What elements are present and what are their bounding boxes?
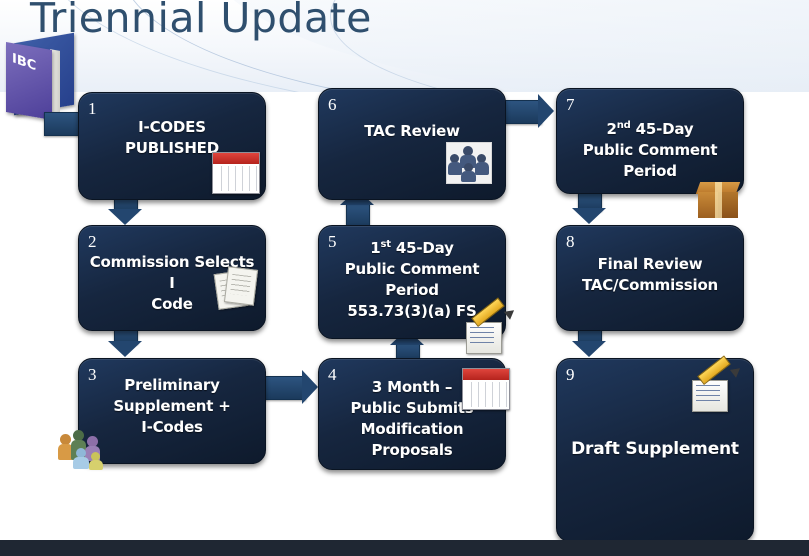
node-label: TAC Review <box>319 121 505 142</box>
people-meeting-icon <box>446 142 492 184</box>
book-title-label: IBC <box>12 51 36 75</box>
ordinal-suffix: st <box>381 239 391 250</box>
node-number: 7 <box>566 95 575 115</box>
node-number: 8 <box>566 232 575 252</box>
node-label-line-1: 2nd 45-Day <box>563 115 737 140</box>
node-label: 1st 45-Day Public Comment Period 553.73(… <box>319 234 505 322</box>
process-node-8[interactable]: 8 Final Review TAC/Commission <box>556 225 744 331</box>
notepad-pencil-icon <box>466 316 510 356</box>
ordinal-suffix: nd <box>617 120 631 131</box>
calendar-icon <box>462 368 510 410</box>
node-number: 9 <box>566 365 575 385</box>
slide-canvas: Triennial Update IBC 1 I-CODES <box>0 0 809 556</box>
slide-header: Triennial Update <box>0 0 809 92</box>
node-number: 6 <box>328 95 337 115</box>
page-title: Triennial Update <box>30 0 372 42</box>
node-label: Draft Supplement <box>557 439 753 460</box>
documents-icon <box>216 266 260 310</box>
people-group-icon <box>58 428 114 470</box>
book-front-cover: IBC <box>6 42 52 120</box>
notepad-pencil-icon <box>692 374 736 414</box>
node-label: Final Review TAC/Commission <box>557 254 743 296</box>
process-node-7[interactable]: 7 2nd 45-Day Public Comment Period <box>556 88 744 194</box>
package-icon <box>698 182 740 222</box>
calendar-icon <box>212 152 260 194</box>
slide-bottom-strip <box>0 540 809 556</box>
node-label-line-1: 1st 45-Day <box>325 234 499 259</box>
node-number: 2 <box>88 232 97 252</box>
node-number: 1 <box>88 99 97 119</box>
node-label: 2nd 45-Day Public Comment Period <box>557 115 743 182</box>
